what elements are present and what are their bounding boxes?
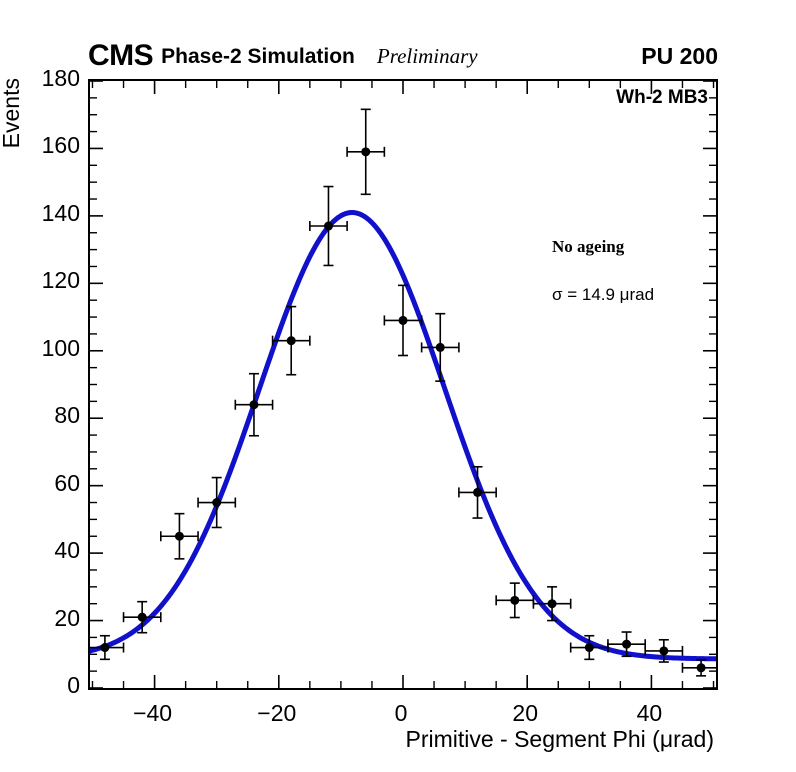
y-tick-label: 180 [2,65,80,92]
preliminary-label: Preliminary [377,46,478,67]
y-tick-label: 40 [2,537,80,564]
x-tick-label: 20 [485,700,565,727]
data-point-marker [436,343,445,352]
data-point-marker [249,400,258,409]
chart-canvas: CMS Phase-2 Simulation Preliminary PU 20… [0,0,796,772]
data-point-marker [473,488,482,497]
plot-graphics [90,81,716,688]
y-tick-label: 60 [2,470,80,497]
y-tick-label: 100 [2,335,80,362]
fit-curve [90,213,716,659]
y-tick-label: 160 [2,132,80,159]
chart-header: CMS Phase-2 Simulation Preliminary PU 20… [88,40,718,72]
x-tick-label: 40 [609,700,689,727]
x-tick-label: 0 [361,700,441,727]
data-point-marker [548,599,557,608]
data-point-marker [697,663,706,672]
ageing-annotation: No ageing [552,237,624,257]
x-axis-title: Primitive - Segment Phi (μrad) [88,726,718,753]
data-point-marker [361,147,370,156]
data-point-marker [287,336,296,345]
cms-logo-text: CMS [88,41,153,71]
pileup-label: PU 200 [641,45,718,68]
data-point-marker [622,640,631,649]
y-tick-label: 0 [2,672,80,699]
sigma-annotation: σ = 14.9 μrad [552,285,654,305]
simulation-label: Phase-2 Simulation [161,46,355,67]
x-tick-label: −40 [113,700,193,727]
data-point-marker [399,316,408,325]
y-tick-label: 80 [2,402,80,429]
region-label: Wh-2 MB3 [616,87,708,109]
plot-frame: Wh-2 MB3 No ageing σ = 14.9 μrad [88,79,718,690]
data-point-marker [175,532,184,541]
y-tick-label: 120 [2,267,80,294]
plot-area: Wh-2 MB3 No ageing σ = 14.9 μrad [90,81,716,688]
data-point-marker [585,643,594,652]
y-tick-label: 20 [2,605,80,632]
data-point-marker [510,596,519,605]
data-point-marker [138,613,147,622]
x-tick-label: −20 [237,700,317,727]
data-point-marker [100,643,109,652]
data-point-marker [659,646,668,655]
data-point-marker [212,498,221,507]
y-tick-label: 140 [2,200,80,227]
data-point-marker [324,222,333,231]
